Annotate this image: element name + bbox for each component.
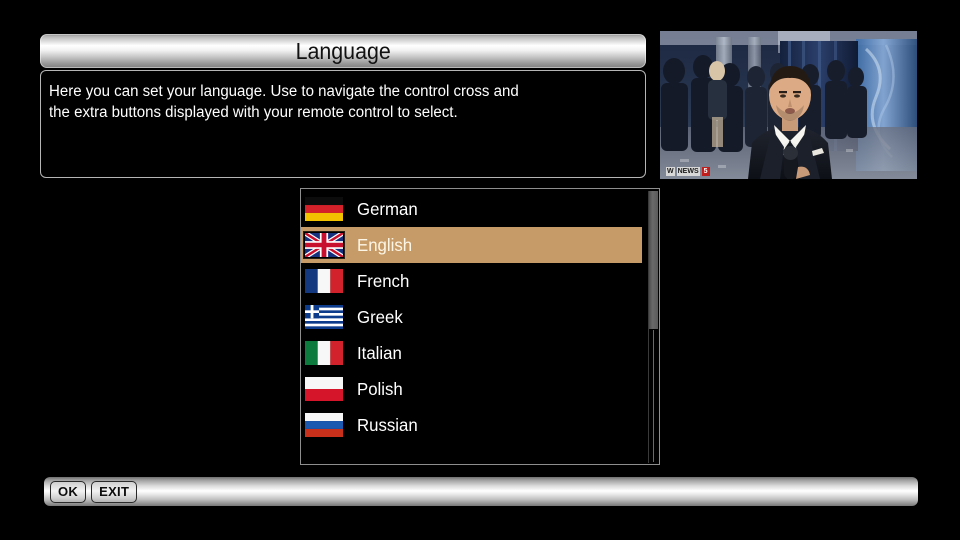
flag-gb-icon [304, 232, 344, 258]
list-item[interactable]: German [301, 191, 643, 227]
flag-fr-icon [304, 268, 344, 294]
description-panel: Here you can set your language. Use to n… [40, 70, 646, 178]
video-frame-image [660, 31, 917, 179]
flag-pl-icon [304, 376, 344, 402]
channel-logo-part1: W [666, 167, 675, 176]
list-item-label: Polish [357, 379, 403, 400]
list-scrollbar-thumb[interactable] [649, 191, 658, 329]
softkey-bar: OK EXIT [44, 477, 918, 506]
list-item-label: Italian [357, 343, 402, 364]
list-item-label: English [357, 235, 412, 256]
window-title-bar: Language [40, 34, 646, 68]
list-item[interactable]: Polish [301, 371, 643, 407]
exit-button[interactable]: EXIT [91, 481, 137, 503]
channel-logo-part3: 5 [702, 167, 710, 176]
list-scrollbar[interactable] [648, 191, 658, 463]
flag-it-icon [304, 340, 344, 366]
language-list[interactable]: German English [301, 191, 643, 447]
list-item-label: Russian [357, 415, 418, 436]
page-title: Language [295, 38, 390, 65]
list-item-label: German [357, 199, 418, 220]
channel-logo: W NEWS 5 [666, 167, 710, 176]
flag-ru-icon [304, 412, 344, 438]
list-item-label: French [357, 271, 409, 292]
list-item[interactable]: Italian [301, 335, 643, 371]
list-item[interactable]: French [301, 263, 643, 299]
list-item-label: Greek [357, 307, 403, 328]
list-scrollbar-track-line [653, 330, 654, 462]
ok-button[interactable]: OK [50, 481, 86, 503]
list-item-selected[interactable]: English [301, 227, 642, 263]
flag-de-icon [304, 196, 344, 222]
list-item[interactable]: Russian [301, 407, 643, 443]
description-text: Here you can set your language. Use to n… [49, 81, 617, 123]
language-list-panel[interactable]: German English [300, 188, 660, 465]
channel-logo-part2: NEWS [677, 167, 700, 176]
flag-gr-icon [304, 304, 344, 330]
tv-settings-screen: Language Here you can set your language.… [0, 0, 960, 540]
list-item[interactable]: Greek [301, 299, 643, 335]
video-preview[interactable]: W NEWS 5 [660, 31, 917, 179]
